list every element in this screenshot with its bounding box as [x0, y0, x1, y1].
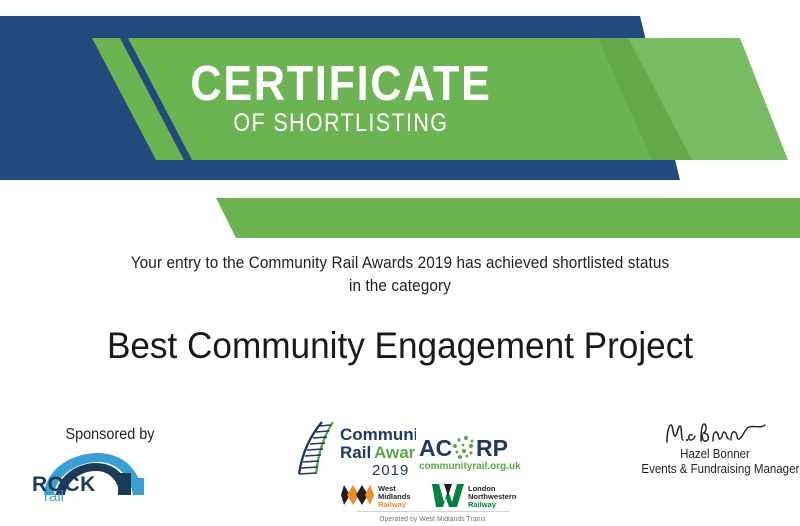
cra-track-graphic: [299, 422, 333, 474]
cra-line-2a: Rail: [340, 443, 371, 462]
certificate-footer: Sponsored by ROCK rail: [0, 414, 800, 526]
rock-block-blue: [133, 478, 144, 495]
train-operators-block: West Midlands Railway London Northwester…: [340, 482, 525, 524]
acorp-logo: AC RP communityrail.org.uk: [419, 434, 523, 479]
certificate-body: Your entry to the Community Rail Awards …: [0, 252, 800, 368]
rock-sub-wordmark: rail: [44, 488, 64, 501]
lnr-symbol: [432, 484, 464, 507]
intro-line-1: Your entry to the Community Rail Awards …: [28, 252, 772, 275]
london-northwestern-railway-logo: London Northwestern Railway: [432, 482, 524, 508]
acorp-logo-svg: AC RP communityrail.org.uk: [419, 434, 523, 474]
acorp-website: communityrail.org.uk: [419, 461, 521, 472]
green-band-shape: [0, 190, 800, 246]
operator-logos-row: West Midlands Railway London Northwester…: [340, 482, 525, 508]
lnr-line-3: Railway: [468, 500, 497, 508]
handwritten-signature: [661, 420, 769, 446]
rock-block-navy: [118, 473, 131, 495]
wmr-line-3: Railway: [378, 500, 407, 508]
acorp-dotted-o: [453, 436, 474, 459]
cra-logo-svg: Community Rail Awards 2019: [286, 418, 416, 480]
community-rail-awards-logo: Community Rail Awards 2019: [286, 418, 416, 485]
cra-line-2b: Awards: [374, 443, 416, 462]
award-category-title: Best Community Engagement Project: [20, 324, 780, 368]
green-divider-band: [0, 190, 800, 246]
acorp-text-left: AC: [419, 435, 452, 461]
wmr-symbol: [341, 485, 374, 505]
signatory-role: Events & Fundraising Manager: [641, 462, 788, 477]
west-midlands-railway-logo: West Midlands Railway: [341, 482, 425, 508]
signatory-name: Hazel Bonner: [641, 447, 788, 462]
certificate-page: CERTIFICATE OF SHORTLISTING Your entry t…: [0, 0, 800, 526]
header-banner-shapes: [0, 0, 800, 190]
signature-block: Hazel Bonner Events & Fundraising Manage…: [635, 420, 795, 477]
cra-year: 2019: [372, 462, 409, 479]
sponsor-block: Sponsored by ROCK rail: [30, 426, 190, 501]
operators-divider: [357, 511, 509, 512]
header-banner: CERTIFICATE OF SHORTLISTING: [0, 0, 800, 190]
green-band-parallelogram: [216, 198, 800, 238]
acorp-text-right: RP: [476, 435, 508, 461]
sponsored-by-label: Sponsored by: [36, 426, 185, 444]
intro-line-2: in the category: [28, 275, 772, 298]
operated-by-label: Operated by West Midlands Trains: [345, 515, 521, 524]
rock-rail-logo: ROCK rail: [30, 451, 148, 501]
cra-line-1: Community: [340, 425, 416, 444]
